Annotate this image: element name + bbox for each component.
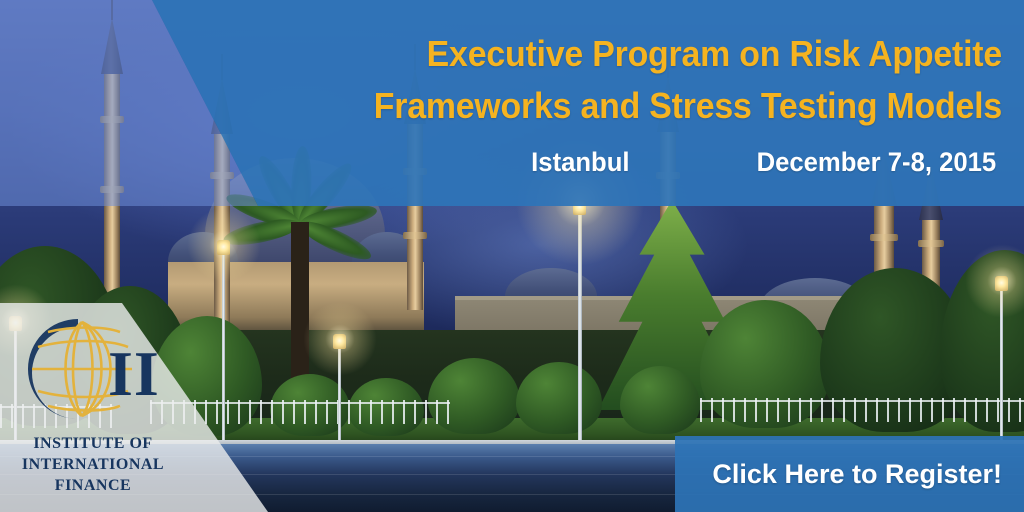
event-title-line-2: Frameworks and Stress Testing Models (60, 80, 1002, 132)
street-lamp (1000, 290, 1003, 440)
iif-logo-wordmark: INSTITUTE OF INTERNATIONAL FINANCE (0, 433, 186, 496)
subtitle-row: Istanbul December 7-8, 2015 (0, 132, 1002, 178)
event-promo-banner: Executive Program on Risk Appetite Frame… (0, 0, 1024, 512)
minaret-balcony (403, 232, 427, 239)
iif-logo: IIF INSTITUTE OF INTERNATIONAL FINANCE (0, 303, 220, 512)
iif-globe-icon: IIF (16, 315, 158, 423)
globe-svg: IIF (16, 315, 158, 423)
event-location: Istanbul (531, 146, 629, 178)
event-title-line-1: Executive Program on Risk Appetite (60, 0, 1002, 80)
event-dates: December 7-8, 2015 (756, 146, 996, 178)
iif-wordmark-line-1: INSTITUTE OF (0, 433, 186, 454)
street-lamp (338, 348, 341, 444)
iif-wordmark-line-2: INTERNATIONAL (0, 454, 186, 475)
lamp-head (995, 276, 1008, 291)
street-lamp (222, 254, 225, 444)
lamp-head (333, 334, 346, 349)
svg-text:IIF: IIF (108, 338, 158, 409)
minaret-balcony (870, 234, 898, 241)
minaret-balcony (918, 240, 944, 247)
title-block: Executive Program on Risk Appetite Frame… (0, 0, 1024, 206)
iif-wordmark-line-3: FINANCE (0, 475, 186, 496)
street-lamp-tall (578, 214, 582, 444)
register-cta-button[interactable]: Click Here to Register! (675, 436, 1024, 512)
lamp-head (217, 240, 230, 255)
park-fence (700, 398, 1024, 422)
